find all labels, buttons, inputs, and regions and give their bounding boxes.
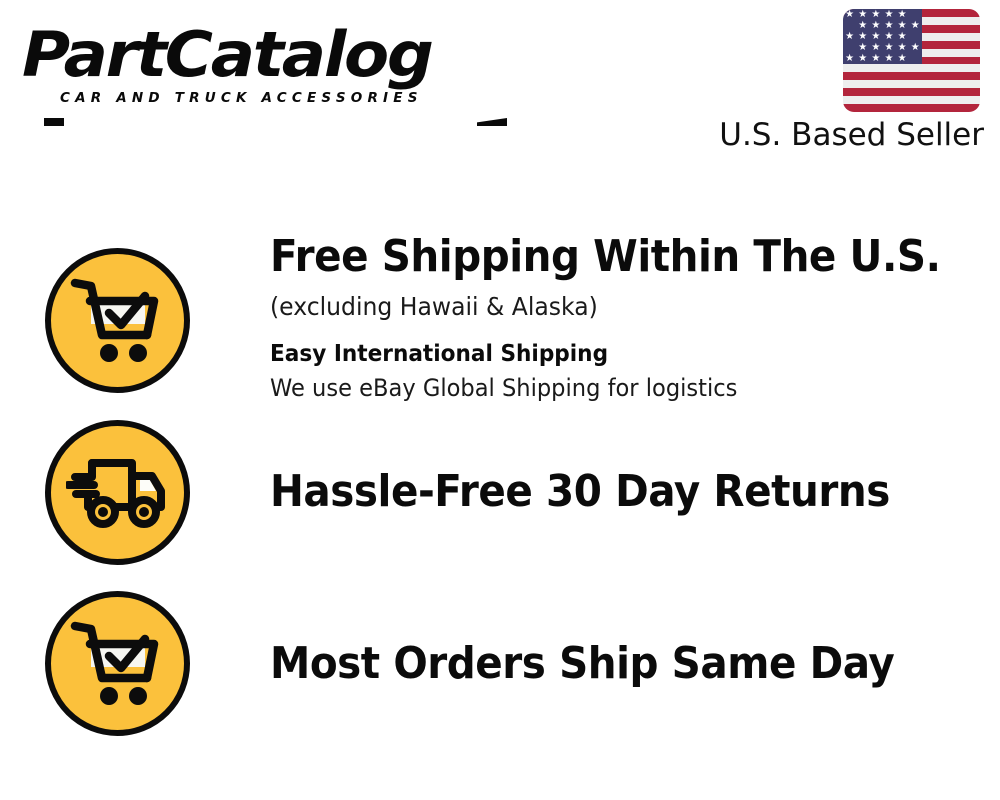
us-based-seller-label: U.S. Based Seller — [719, 117, 984, 153]
feature-text: Most Orders Ship Same Day — [190, 591, 1000, 736]
feature-list: Free Shipping Within The U.S. (excluding… — [0, 232, 1000, 751]
feature-subheadline: Easy International Shipping — [270, 338, 956, 370]
us-flag-icon: ★★★★★★ ★★★★★★ ★★★★★★ ★★★★★★ ★★★★★★ — [843, 9, 980, 112]
feature-text: Hassle-Free 30 Day Returns — [190, 419, 1000, 564]
feature-headline: Most Orders Ship Same Day — [270, 639, 894, 689]
feature-row: Hassle-Free 30 Day Returns — [0, 407, 1000, 579]
page-header: PartCatalog CAR AND TRUCK ACCESSORIES ★★… — [0, 0, 1000, 175]
feature-text: Free Shipping Within The U.S. (excluding… — [190, 232, 1000, 405]
delivery-truck-glyph — [66, 453, 170, 533]
feature-headline: Free Shipping Within The U.S. — [270, 232, 942, 282]
shopping-cart-check-glyph — [68, 618, 168, 710]
flag-canton-stars: ★★★★★★ ★★★★★★ ★★★★★★ ★★★★★★ ★★★★★★ — [843, 9, 922, 64]
shopping-cart-check-icon — [45, 248, 190, 393]
feature-note: (excluding Hawaii & Alaska) — [270, 290, 956, 324]
brand-logo[interactable]: PartCatalog CAR AND TRUCK ACCESSORIES — [22, 22, 492, 106]
shopping-cart-check-glyph — [68, 275, 168, 367]
tagline-rule-right — [477, 118, 507, 126]
feature-headline: Hassle-Free 30 Day Returns — [270, 467, 890, 517]
brand-tagline: CAR AND TRUCK ACCESSORIES — [60, 90, 492, 106]
brand-wordmark: PartCatalog — [22, 22, 520, 88]
delivery-truck-icon — [45, 420, 190, 565]
feature-row: Free Shipping Within The U.S. (excluding… — [0, 232, 1000, 407]
feature-row: Most Orders Ship Same Day — [0, 579, 1000, 751]
tagline-rule-left — [44, 118, 64, 126]
shopping-cart-check-icon — [45, 591, 190, 736]
feature-subtext: We use eBay Global Shipping for logistic… — [270, 372, 956, 405]
